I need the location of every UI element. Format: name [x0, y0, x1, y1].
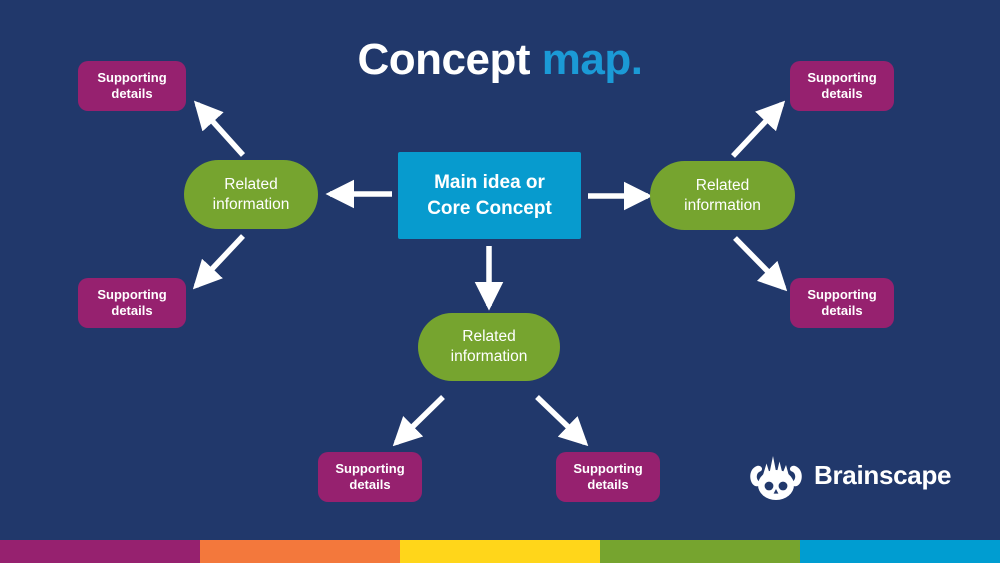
- node-support-bottom-2[interactable]: Supporting details: [556, 452, 660, 502]
- footer-segment-blue: [800, 540, 1000, 563]
- node-related-bottom-line2: information: [451, 347, 528, 367]
- concept-map-slide: Concept map. Main idea or Core: [0, 0, 1000, 563]
- node-related-bottom[interactable]: Related information: [418, 313, 560, 381]
- connector-related-right-to-support-top-right: [733, 104, 782, 156]
- connector-related-bottom-to-support-bottom-1: [396, 397, 443, 443]
- node-related-bottom-label: Related information: [451, 327, 528, 367]
- page-title-part2: map.: [542, 35, 643, 84]
- node-related-left[interactable]: Related information: [184, 160, 318, 229]
- footer-segment-magenta: [0, 540, 200, 563]
- footer-segment-green: [600, 540, 800, 563]
- node-support-bottom-left[interactable]: Supporting details: [78, 278, 186, 328]
- node-support-bottom-2-line2: details: [573, 477, 642, 493]
- brainscape-wordmark: Brainscape: [814, 460, 951, 491]
- footer-segment-yellow: [400, 540, 600, 563]
- node-related-left-label: Related information: [213, 175, 290, 215]
- node-support-bottom-left-label: Supporting details: [97, 287, 166, 320]
- node-support-bottom-right-line2: details: [807, 303, 876, 319]
- node-support-top-left-label: Supporting details: [97, 70, 166, 103]
- connector-related-right-to-support-bottom-right: [735, 238, 784, 288]
- node-support-bottom-left-line2: details: [97, 303, 166, 319]
- footer-segment-orange: [200, 540, 400, 563]
- node-core-concept-line2: Core Concept: [427, 196, 552, 221]
- brainscape-owl-icon: [748, 452, 804, 504]
- node-support-bottom-1-line1: Supporting: [335, 461, 404, 477]
- page-title-part1: Concept: [358, 35, 542, 84]
- node-support-bottom-right-label: Supporting details: [807, 287, 876, 320]
- node-related-right-label: Related information: [684, 176, 761, 216]
- node-related-right-line1: Related: [684, 176, 761, 196]
- connector-related-bottom-to-support-bottom-2: [537, 397, 585, 443]
- node-support-bottom-2-label: Supporting details: [573, 461, 642, 494]
- node-support-top-right-line1: Supporting: [807, 70, 876, 86]
- node-related-left-line2: information: [213, 195, 290, 215]
- node-related-right[interactable]: Related information: [650, 161, 795, 230]
- connector-related-left-to-support-top-left: [197, 104, 243, 155]
- node-support-bottom-1-line2: details: [335, 477, 404, 493]
- node-core-concept-label: Main idea or Core Concept: [427, 170, 552, 220]
- node-support-top-left[interactable]: Supporting details: [78, 61, 186, 111]
- footer-color-bar: [0, 540, 1000, 563]
- node-support-top-right-line2: details: [807, 86, 876, 102]
- node-support-top-right[interactable]: Supporting details: [790, 61, 894, 111]
- node-support-bottom-right-line1: Supporting: [807, 287, 876, 303]
- node-core-concept-line1: Main idea or: [427, 170, 552, 195]
- node-support-top-left-line1: Supporting: [97, 70, 166, 86]
- node-related-right-line2: information: [684, 196, 761, 216]
- node-related-left-line1: Related: [213, 175, 290, 195]
- node-support-bottom-1[interactable]: Supporting details: [318, 452, 422, 502]
- connector-related-left-to-support-bottom-left: [196, 236, 243, 286]
- node-related-bottom-line1: Related: [451, 327, 528, 347]
- node-support-bottom-1-label: Supporting details: [335, 461, 404, 494]
- node-support-top-left-line2: details: [97, 86, 166, 102]
- node-core-concept[interactable]: Main idea or Core Concept: [398, 152, 581, 239]
- node-support-bottom-2-line1: Supporting: [573, 461, 642, 477]
- brainscape-logo: Brainscape: [748, 450, 948, 506]
- node-support-bottom-left-line1: Supporting: [97, 287, 166, 303]
- node-support-bottom-right[interactable]: Supporting details: [790, 278, 894, 328]
- node-support-top-right-label: Supporting details: [807, 70, 876, 103]
